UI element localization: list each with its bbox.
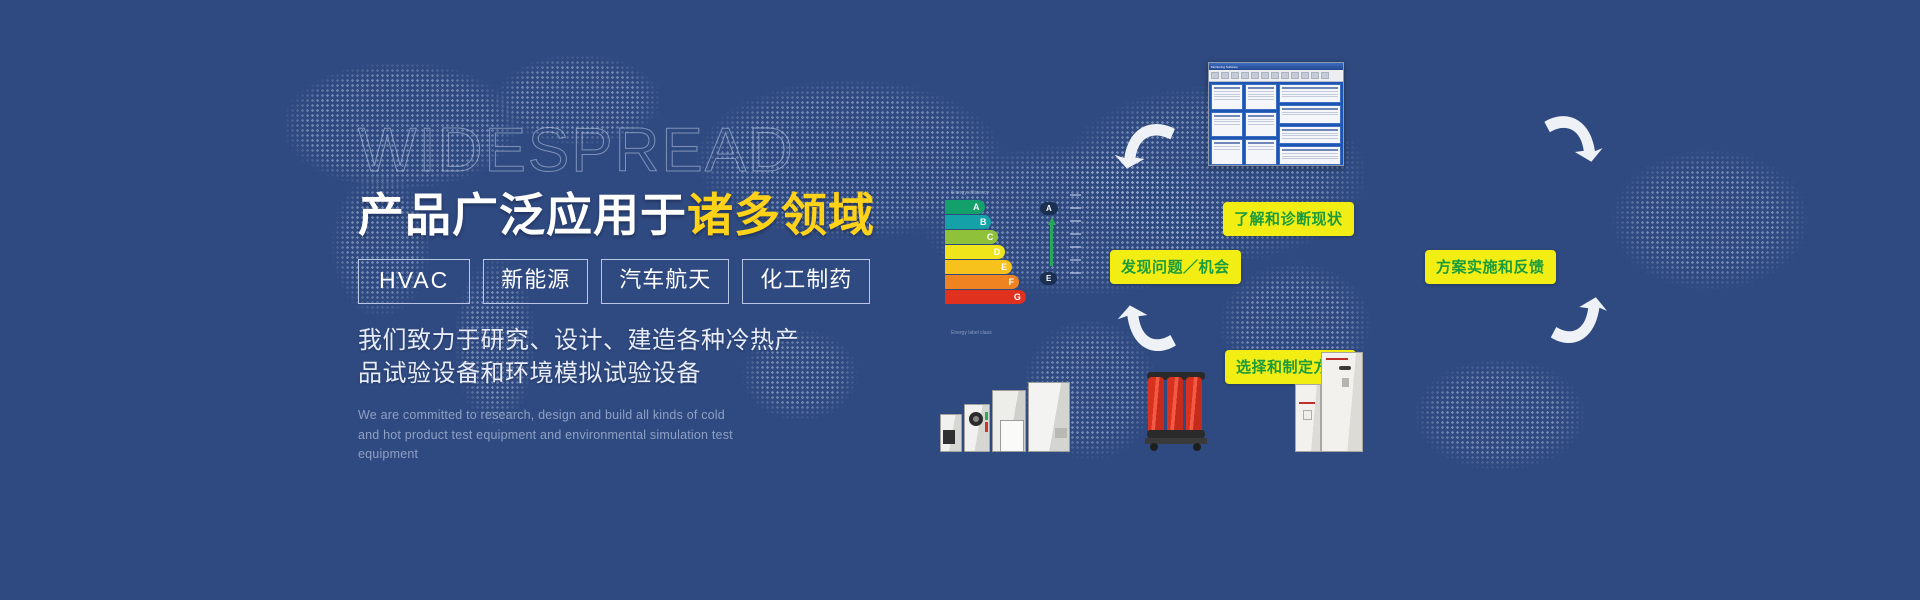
product-drives-group xyxy=(940,377,1070,452)
energy-bar-d: D xyxy=(945,245,1005,259)
product-transformer xyxy=(1145,368,1207,450)
energy-chart-scale: A E xyxy=(1040,194,1080,324)
software-panel xyxy=(1245,84,1277,110)
software-window-body xyxy=(1209,82,1343,166)
cycle-label-implement[interactable]: 方案实施和反馈 xyxy=(1425,250,1556,284)
industry-tag-hvac[interactable]: HVAC xyxy=(358,259,470,304)
page-title: 产品广泛应用于诸多领域 xyxy=(358,188,918,242)
software-panel xyxy=(1245,139,1277,165)
product-photo-cluster xyxy=(930,330,1920,470)
software-window-screenshot: Monitoring Software xyxy=(1208,62,1344,166)
arrow-top-right-icon xyxy=(1540,105,1604,167)
energy-up-arrow-icon xyxy=(1050,224,1053,266)
energy-bar-label-b: B xyxy=(980,217,987,227)
hero-description-en: We are committed to research, design and… xyxy=(358,406,778,464)
solution-cycle-graphic: Energy efficiency A B C D E F G A E Ener… xyxy=(930,0,1920,600)
energy-efficiency-chart: Energy efficiency A B C D E F G A E Ener… xyxy=(945,200,1075,325)
hero-description-en-line1: We are committed to research, design and… xyxy=(358,406,778,425)
energy-bar-label-c: C xyxy=(987,232,994,242)
software-panel xyxy=(1245,112,1277,138)
arrow-top-left-icon xyxy=(1115,112,1179,174)
software-panel xyxy=(1279,84,1341,103)
headline-main: 产品广泛应用于 xyxy=(358,189,687,241)
energy-bar-c: C xyxy=(945,230,998,244)
hero-description-cn: 我们致力于研究、设计、建造各种冷热产品试验设备和环境模拟试验设备 xyxy=(358,324,818,390)
energy-bar-a: A xyxy=(945,200,985,214)
industry-tag-row: HVAC 新能源 汽车航天 化工制药 xyxy=(358,259,918,304)
software-window-titlebar: Monitoring Software xyxy=(1209,63,1343,70)
energy-bar-label-g: G xyxy=(1014,292,1021,302)
energy-bar-e: E xyxy=(945,260,1012,274)
industry-tag-new-energy[interactable]: 新能源 xyxy=(483,259,588,304)
energy-bar-label-d: D xyxy=(994,247,1001,257)
software-panel xyxy=(1279,105,1341,124)
ghost-title: WIDESPREAD xyxy=(358,120,918,182)
hero-text-block: WIDESPREAD 产品广泛应用于诸多领域 HVAC 新能源 汽车航天 化工制… xyxy=(358,120,918,465)
software-panel xyxy=(1211,84,1243,110)
energy-bar-g: G xyxy=(945,290,1026,304)
energy-scale-current-class: E xyxy=(1040,272,1057,285)
industry-tag-chemical-pharma[interactable]: 化工制药 xyxy=(742,259,870,304)
headline-accent: 诸多领域 xyxy=(687,189,875,241)
software-window-toolbar xyxy=(1209,70,1343,82)
energy-bar-label-a: A xyxy=(973,202,980,212)
energy-chart-bars: A B C D E F G xyxy=(945,200,1031,305)
software-panel xyxy=(1279,146,1341,165)
energy-bar-f: F xyxy=(945,275,1019,289)
software-panel xyxy=(1211,139,1243,165)
software-panel xyxy=(1211,112,1243,138)
cycle-label-discover[interactable]: 发现问题／机会 xyxy=(1110,250,1241,284)
energy-scale-ticks xyxy=(1070,194,1081,285)
energy-bar-label-e: E xyxy=(1001,262,1007,272)
software-panel xyxy=(1279,126,1341,145)
industry-tag-automotive-aerospace[interactable]: 汽车航天 xyxy=(601,259,729,304)
energy-chart-caption-top: Energy efficiency xyxy=(951,190,989,196)
energy-scale-best-class: A xyxy=(1040,202,1058,215)
software-window-title: Monitoring Software xyxy=(1211,65,1238,69)
cycle-label-diagnose[interactable]: 了解和诊断现状 xyxy=(1223,202,1354,236)
hero-banner: WIDESPREAD 产品广泛应用于诸多领域 HVAC 新能源 汽车航天 化工制… xyxy=(0,0,1920,600)
hero-description-en-line2: and hot product test equipment and envir… xyxy=(358,426,778,465)
energy-bar-label-f: F xyxy=(1008,277,1014,287)
product-cabinets xyxy=(1295,352,1363,452)
energy-bar-b: B xyxy=(945,215,991,229)
